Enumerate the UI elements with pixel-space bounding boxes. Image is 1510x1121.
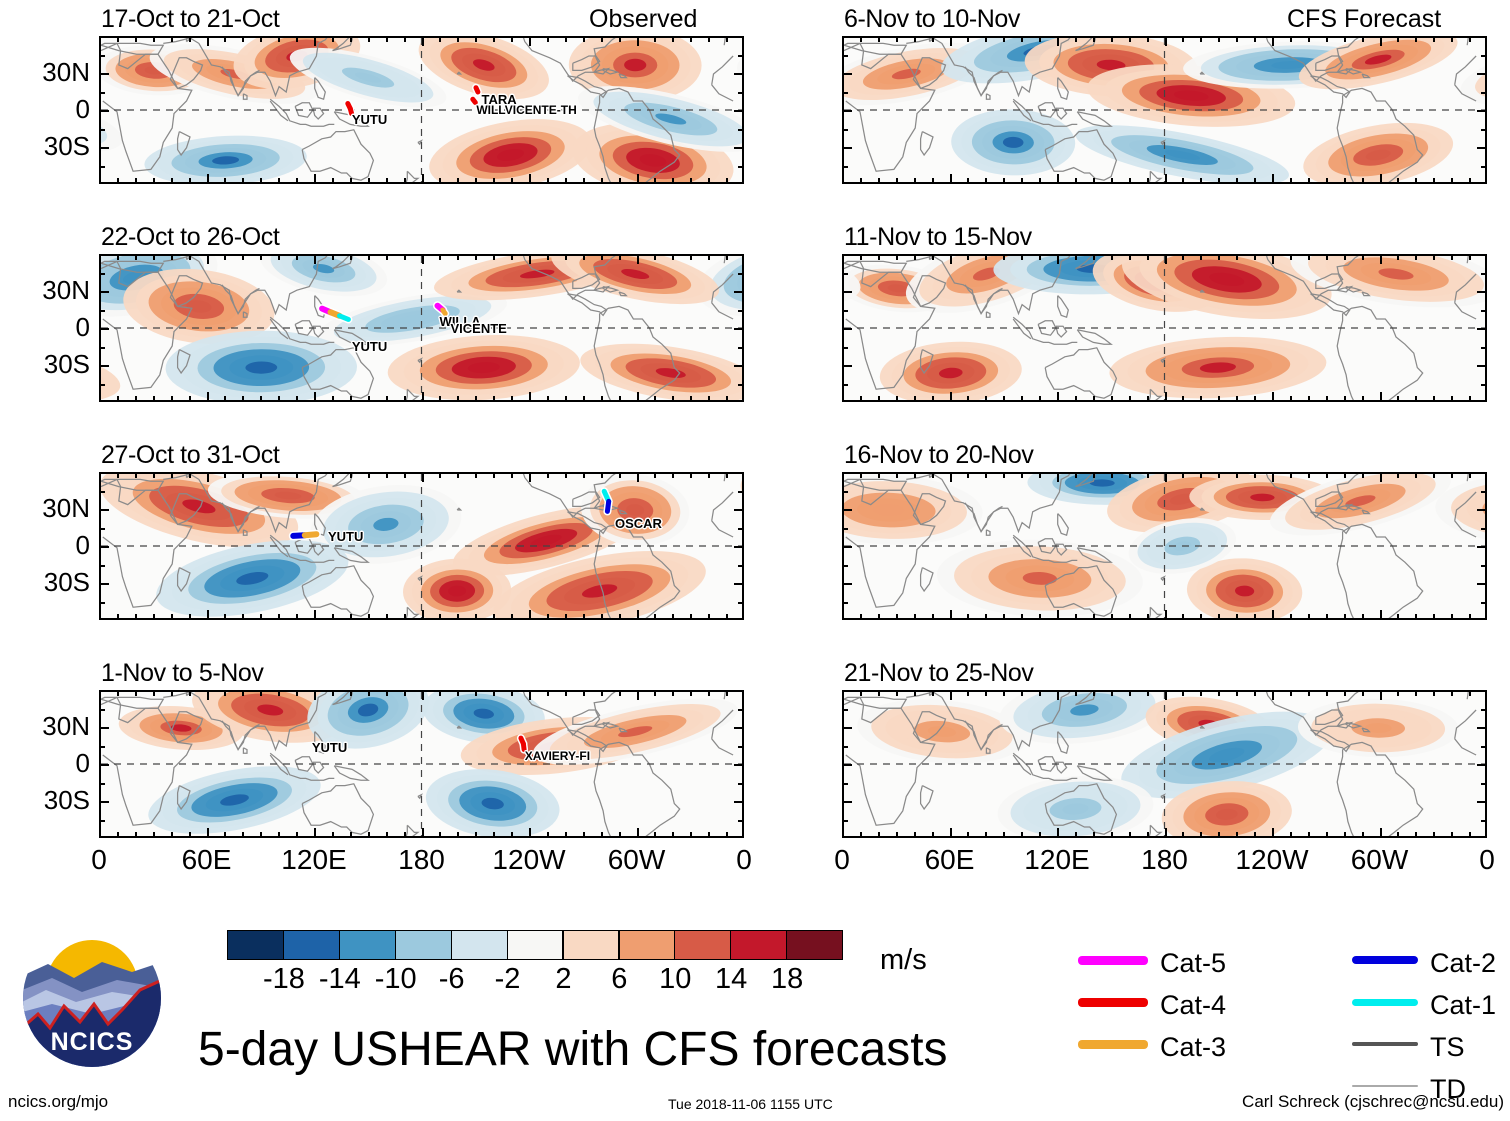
colorbar-segment-9 [730, 930, 787, 960]
map-field-5 [101, 474, 742, 618]
storm-label-yutu: YUTU [352, 112, 387, 127]
legend-swatch-cat-5 [1078, 956, 1148, 965]
panel-title-2: 6-Nov to 10-Nov [844, 5, 1020, 34]
x-axis-label-1-5: 60W [1325, 844, 1435, 876]
panel-title-3: 22-Oct to 26-Oct [101, 223, 279, 252]
colorbar-segment-4 [451, 930, 508, 960]
map-panel-1[interactable] [99, 36, 744, 184]
legend-swatch-cat-3 [1078, 1040, 1148, 1049]
x-axis-label-1-3: 180 [1110, 844, 1220, 876]
footer-author[interactable]: Carl Schreck (cjschrec@ncsu.edu) [1242, 1092, 1504, 1112]
map-panel-3[interactable] [99, 254, 744, 402]
legend-label-cat-5: Cat-5 [1160, 948, 1226, 979]
colorbar-segment-7 [619, 930, 676, 960]
panel-title-7: 1-Nov to 5-Nov [101, 659, 264, 688]
storm-label-oscar: OSCAR [615, 516, 662, 531]
storm-label-yutu: YUTU [312, 740, 347, 755]
x-axis-label-0-5: 60W [582, 844, 692, 876]
y-axis-label-30S: 30S [4, 131, 90, 162]
storm-label-vicente: VICENTE [451, 321, 507, 336]
x-axis-label-0-2: 120E [259, 844, 369, 876]
map-field-7 [101, 692, 742, 836]
storm-label-xaviery-fi: XAVIERY-FI [525, 749, 590, 763]
map-panel-8[interactable] [842, 690, 1487, 838]
colorbar-tick-9: 18 [747, 963, 827, 996]
y-axis-label-0: 0 [4, 748, 90, 779]
colorbar-segment-5 [507, 930, 564, 960]
legend-label-ts: TS [1430, 1032, 1465, 1063]
legend-label-cat-3: Cat-3 [1160, 1032, 1226, 1063]
map-field-8 [844, 692, 1485, 836]
svg-text:NCICS: NCICS [51, 1028, 134, 1056]
colorbar-segment-0 [227, 930, 284, 960]
y-axis-label-30S: 30S [4, 785, 90, 816]
y-axis-label-0: 0 [4, 530, 90, 561]
panel-title-6: 16-Nov to 20-Nov [844, 441, 1034, 470]
map-panel-2[interactable] [842, 36, 1487, 184]
ncics-logo: NCICS [22, 928, 162, 1068]
map-panel-4[interactable] [842, 254, 1487, 402]
legend-swatch-cat-2 [1352, 956, 1418, 964]
x-axis-label-1-1: 60E [895, 844, 1005, 876]
colorbar-segment-2 [339, 930, 396, 960]
legend-swatch-cat-1 [1352, 999, 1418, 1006]
x-axis-label-0-3: 180 [367, 844, 477, 876]
footer-timestamp: Tue 2018-11-06 1155 UTC [668, 1096, 833, 1112]
map-field-1 [101, 38, 742, 182]
storm-label-willvicente-th: WILLVICENTE-TH [476, 103, 576, 117]
y-axis-label-30S: 30S [4, 349, 90, 380]
footer-left[interactable]: ncics.org/mjo [8, 1092, 108, 1112]
panel-title-5: 27-Oct to 31-Oct [101, 441, 279, 470]
y-axis-label-0: 0 [4, 312, 90, 343]
map-field-2 [844, 38, 1485, 182]
legend-swatch-td [1352, 1085, 1418, 1087]
x-axis-label-0-0: 0 [44, 844, 154, 876]
legend-swatch-ts [1352, 1042, 1418, 1046]
panel-title-4: 11-Nov to 15-Nov [844, 223, 1032, 252]
y-axis-label-30N: 30N [4, 493, 90, 524]
map-panel-5[interactable] [99, 472, 744, 620]
main-title: 5-day USHEAR with CFS forecasts [198, 1022, 948, 1077]
panel-title-8: 21-Nov to 25-Nov [844, 659, 1034, 688]
legend-swatch-cat-4 [1078, 998, 1148, 1007]
y-axis-label-30S: 30S [4, 567, 90, 598]
x-axis-label-0-4: 120W [474, 844, 584, 876]
y-axis-label-0: 0 [4, 94, 90, 125]
legend-label-cat-2: Cat-2 [1430, 948, 1496, 979]
column-header-forecast: CFS Forecast [1287, 5, 1441, 34]
map-panel-7[interactable] [99, 690, 744, 838]
map-field-4 [844, 256, 1485, 400]
storm-label-yutu: YUTU [328, 529, 363, 544]
colorbar-segment-10 [786, 930, 843, 960]
map-field-6 [844, 474, 1485, 618]
x-axis-label-1-4: 120W [1217, 844, 1327, 876]
y-axis-label-30N: 30N [4, 711, 90, 742]
x-axis-label-1-2: 120E [1002, 844, 1112, 876]
colorbar-segment-6 [563, 930, 620, 960]
x-axis-label-1-6: 0 [1432, 844, 1510, 876]
map-panel-6[interactable] [842, 472, 1487, 620]
legend-label-cat-4: Cat-4 [1160, 990, 1226, 1021]
x-axis-label-0-1: 60E [152, 844, 262, 876]
ncics-logo-svg: NCICS [22, 928, 162, 1068]
x-axis-label-0-6: 0 [689, 844, 799, 876]
column-header-observed: Observed [589, 5, 697, 34]
panel-title-1: 17-Oct to 21-Oct [101, 5, 279, 34]
x-axis-label-1-0: 0 [787, 844, 897, 876]
colorbar-segment-8 [674, 930, 731, 960]
colorbar-segment-3 [395, 930, 452, 960]
storm-label-yutu: YUTU [352, 339, 387, 354]
colorbar [228, 930, 843, 960]
y-axis-label-30N: 30N [4, 275, 90, 306]
legend-label-cat-1: Cat-1 [1430, 990, 1496, 1021]
map-field-3 [101, 256, 742, 400]
colorbar-segment-1 [283, 930, 340, 960]
colorbar-units: m/s [880, 944, 927, 977]
y-axis-label-30N: 30N [4, 57, 90, 88]
